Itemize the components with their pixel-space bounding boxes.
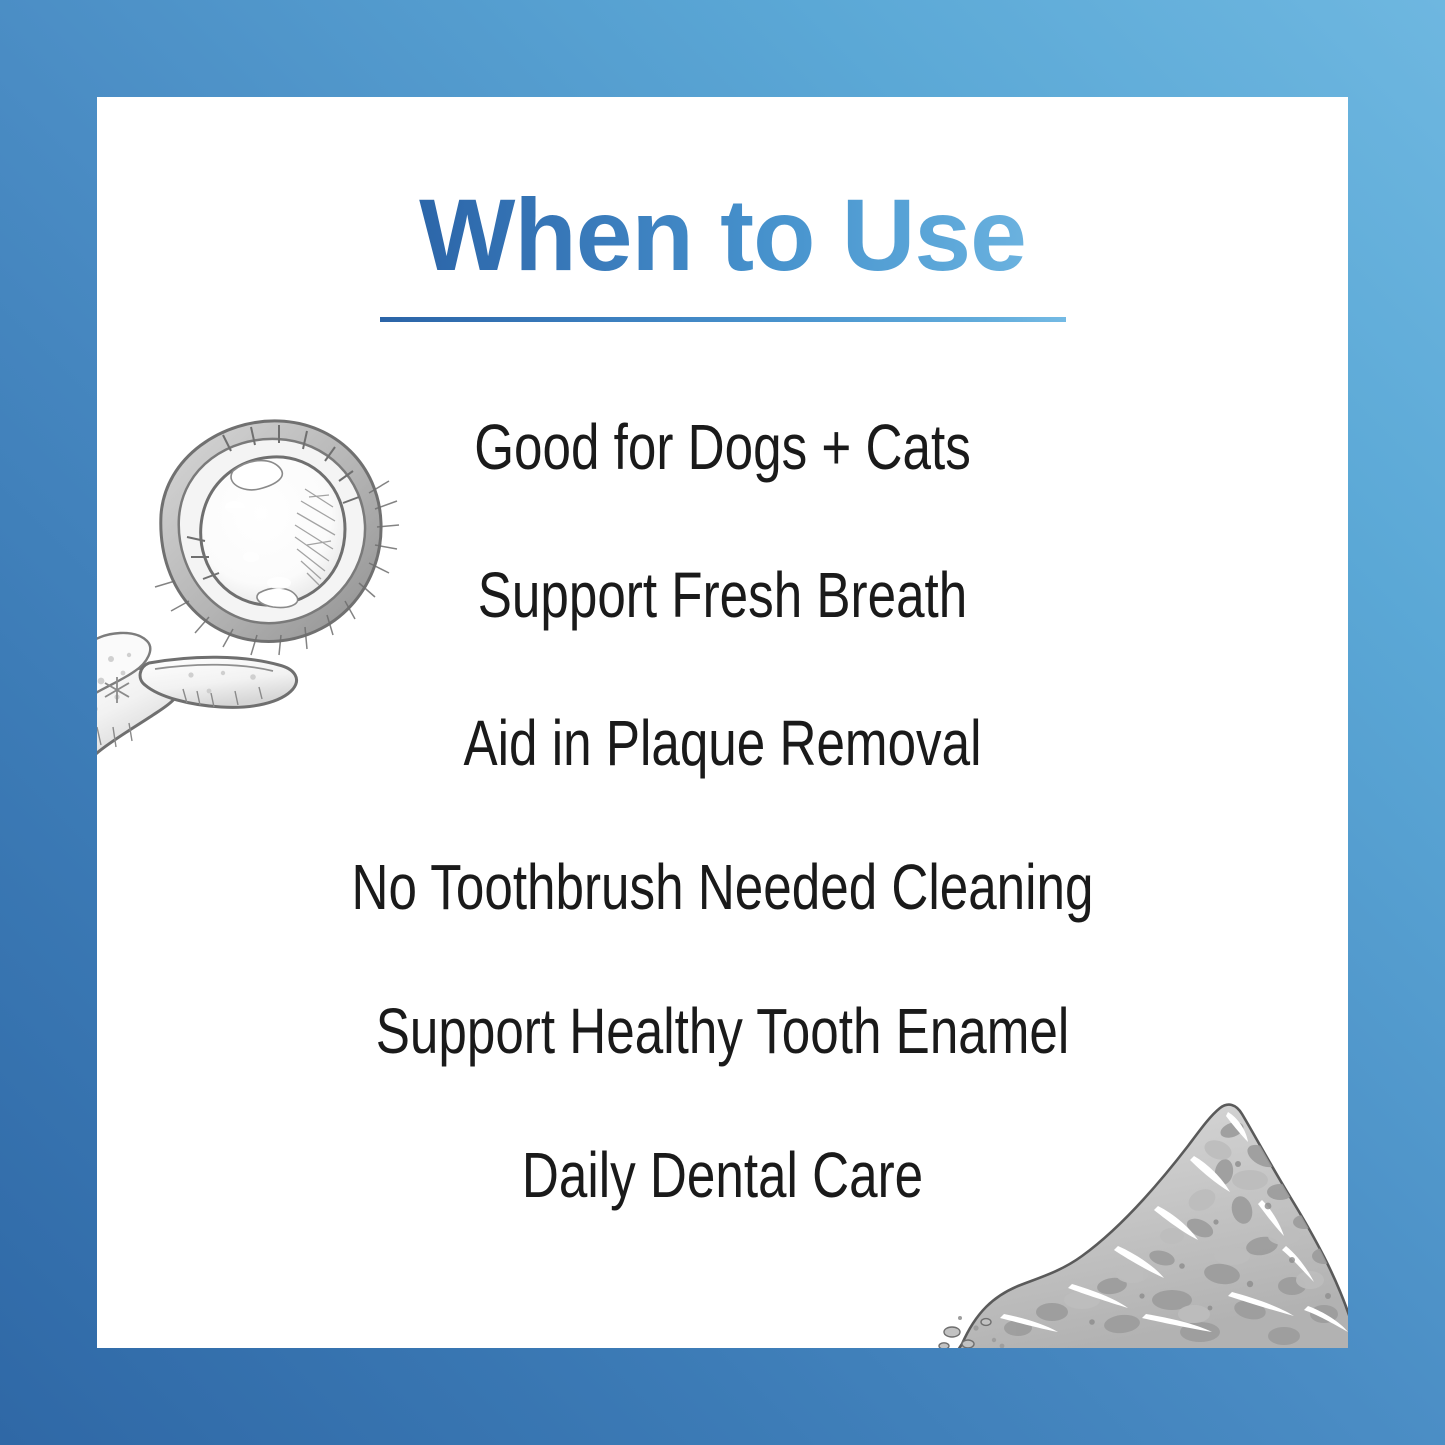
page-title: When to Use: [419, 182, 1026, 289]
page-title-block: When to Use: [97, 182, 1348, 289]
white-content-panel: When to Use: [97, 97, 1348, 1348]
title-underline: [380, 317, 1066, 322]
benefit-item: Aid in Plaque Removal: [222, 711, 1223, 775]
benefit-item: Good for Dogs + Cats: [222, 415, 1223, 479]
benefit-item: Support Healthy Tooth Enamel: [222, 999, 1223, 1063]
poster-root: When to Use: [0, 0, 1445, 1445]
benefit-item: Support Fresh Breath: [222, 563, 1223, 627]
benefit-item: No Toothbrush Needed Cleaning: [222, 855, 1223, 919]
benefit-item: Daily Dental Care: [222, 1143, 1223, 1207]
benefits-list: Good for Dogs + Cats Support Fresh Breat…: [97, 415, 1348, 1207]
